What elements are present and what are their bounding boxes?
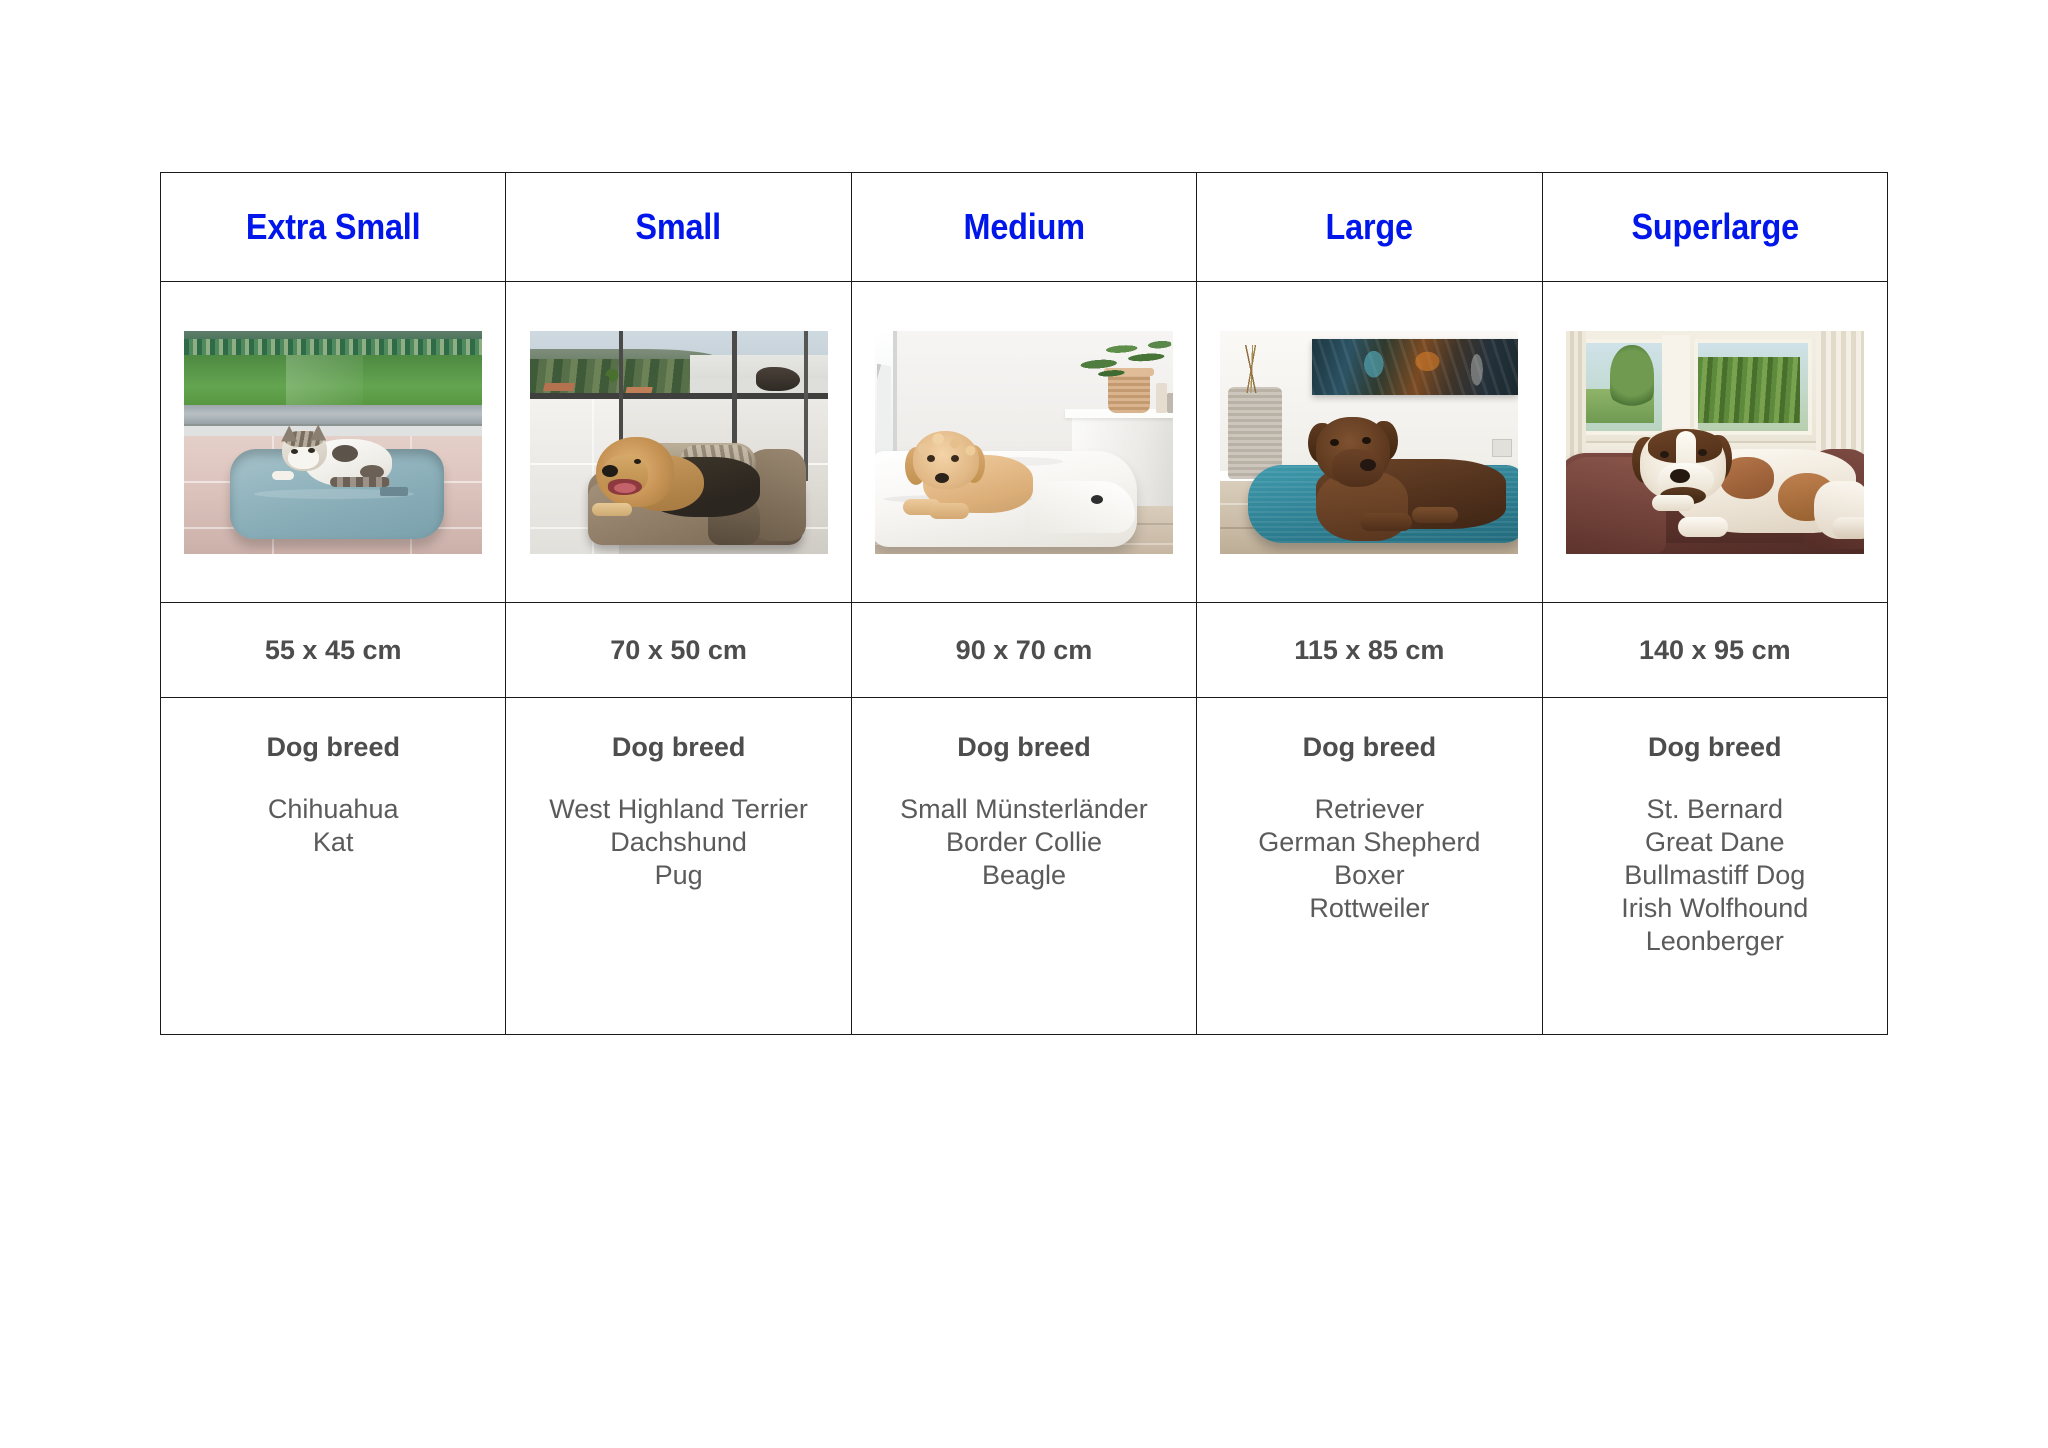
dimensions-medium: 90 x 70 cm [852,637,1196,664]
cat-marking [332,445,358,462]
fern-plant [1079,333,1173,381]
dimensions-superlarge: 140 x 95 cm [1543,637,1887,664]
dog-eye-left [1660,451,1669,458]
dog-nose [602,465,618,477]
size-name-medium: Medium [869,209,1179,245]
cat-paw [272,471,294,480]
list-item: Border Collie [852,826,1196,859]
size-name-superlarge: Superlarge [1560,209,1870,245]
breed-heading-extra-small: Dog breed [161,734,505,761]
dog-paw-front [1360,513,1412,531]
header-cell-small: Small [506,173,851,282]
window-rail [530,393,828,399]
photo-wrap-extra-small [161,282,505,602]
dog-paw-back [1412,507,1458,523]
product-photo-small [530,331,828,554]
cat-eye-left [291,449,298,454]
breed-list-large: Retriever German Shepherd Boxer Rottweil… [1197,793,1541,925]
cat-tail [330,477,390,487]
wall-socket [1492,439,1512,457]
breed-heading-large: Dog breed [1197,734,1541,761]
product-photo-extra-small [184,331,482,554]
bed-label-tag [1091,495,1103,504]
list-item: Retriever [1197,793,1541,826]
photo-wrap-superlarge [1543,282,1887,602]
breeds-cell-large: Dog breed Retriever German Shepherd Boxe… [1197,698,1542,1035]
product-photo-superlarge [1566,331,1864,554]
list-item: St. Bernard [1543,793,1887,826]
dog-tail [1832,517,1864,539]
dimensions-cell-large: 115 x 85 cm [1197,603,1542,698]
size-name-small: Small [524,209,834,245]
dog-eye-right [951,455,959,462]
wall-artwork-detail [1312,339,1518,395]
list-item: Chihuahua [161,793,505,826]
dog-eye-right [1698,449,1707,456]
size-comparison-table: Extra Small Small Medium Large Superlarg… [160,172,1888,1035]
list-item: Leonberger [1543,925,1887,958]
list-item: German Shepherd [1197,826,1541,859]
breed-list-medium: Small Münsterländer Border Collie Beagle [852,793,1196,892]
dimensions-cell-small: 70 x 50 cm [506,603,851,698]
size-name-extra-small: Extra Small [178,209,488,245]
rooftop [543,383,575,391]
bed-flap [1025,481,1135,533]
dog-eye-left [1330,439,1339,446]
dog-bed-size-chart-page: Extra Small Small Medium Large Superlarg… [0,0,2048,1448]
dog-paw [592,503,632,516]
list-item: Beagle [852,859,1196,892]
dimensions-cell-superlarge: 140 x 95 cm [1542,603,1887,698]
dog-muzzle [1332,449,1384,487]
dog-eye [634,459,641,464]
list-item: Bullmastiff Dog [1543,859,1887,892]
dried-stems [1232,345,1272,393]
dog-eye-right [1362,437,1371,444]
header-cell-medium: Medium [851,173,1196,282]
garden-tree [1610,345,1654,407]
table-breeds-row: Dog breed Chihuahua Kat Dog breed West H… [161,698,1888,1035]
dog-tongue [614,483,636,493]
dimensions-large: 115 x 85 cm [1197,637,1541,664]
dog-paw-front [1678,517,1728,537]
window-blind [877,363,891,443]
photo-cell-superlarge [1542,282,1887,603]
product-photo-medium [875,331,1173,554]
breed-list-extra-small: Chihuahua Kat [161,793,505,859]
breeds-cell-small: Dog breed West Highland Terrier Dachshun… [506,698,851,1035]
table-dimensions-row: 55 x 45 cm 70 x 50 cm 90 x 70 cm 115 x 8… [161,603,1888,698]
dimensions-small: 70 x 50 cm [506,637,850,664]
list-item: Pug [506,859,850,892]
list-item: Kat [161,826,505,859]
dog-nose [1670,469,1690,483]
header-cell-extra-small: Extra Small [161,173,506,282]
list-item: Rottweiler [1197,892,1541,925]
product-photo-large [1220,331,1518,554]
dog-nose [935,473,949,483]
photo-cell-medium [851,282,1196,603]
dimensions-extra-small: 55 x 45 cm [161,637,505,664]
list-item: Boxer [1197,859,1541,892]
dog-nose [1360,459,1376,471]
breeds-cell-extra-small: Dog breed Chihuahua Kat [161,698,506,1035]
photo-cell-small [506,282,851,603]
table-header-row: Extra Small Small Medium Large Superlarg… [161,173,1888,282]
header-cell-superlarge: Superlarge [1542,173,1887,282]
breed-heading-superlarge: Dog breed [1543,734,1887,761]
glass-reflection [286,355,363,407]
breeds-cell-superlarge: Dog breed St. Bernard Great Dane Bullmas… [1542,698,1887,1035]
dog-paw-upper [1652,495,1694,511]
photo-cell-large [1197,282,1542,603]
table-photo-row [161,282,1888,603]
size-name-large: Large [1214,209,1524,245]
breeds-cell-medium: Dog breed Small Münsterländer Border Col… [851,698,1196,1035]
candle [1156,383,1167,413]
dog-eye-left [927,455,935,462]
window-mullion [804,331,808,481]
dimensions-cell-medium: 90 x 70 cm [851,603,1196,698]
candle [1167,393,1173,413]
dog-paw-right [929,503,969,519]
garden-hedge [1698,357,1800,423]
list-item: West Highland Terrier [506,793,850,826]
list-item: Dachshund [506,826,850,859]
list-item: Great Dane [1543,826,1887,859]
list-item: Irish Wolfhound [1543,892,1887,925]
list-item: Small Münsterländer [852,793,1196,826]
dimensions-cell-extra-small: 55 x 45 cm [161,603,506,698]
bed-label-tag [380,487,408,496]
header-cell-large: Large [1197,173,1542,282]
photo-cell-extra-small [161,282,506,603]
breed-list-small: West Highland Terrier Dachshund Pug [506,793,850,892]
breed-list-superlarge: St. Bernard Great Dane Bullmastiff Dog I… [1543,793,1887,958]
photo-wrap-small [506,282,850,602]
photo-wrap-medium [852,282,1196,602]
breed-heading-small: Dog breed [506,734,850,761]
breed-heading-medium: Dog breed [852,734,1196,761]
dog-curly-fur [913,429,983,465]
cat-eye-right [308,448,315,453]
photo-wrap-large [1197,282,1541,602]
